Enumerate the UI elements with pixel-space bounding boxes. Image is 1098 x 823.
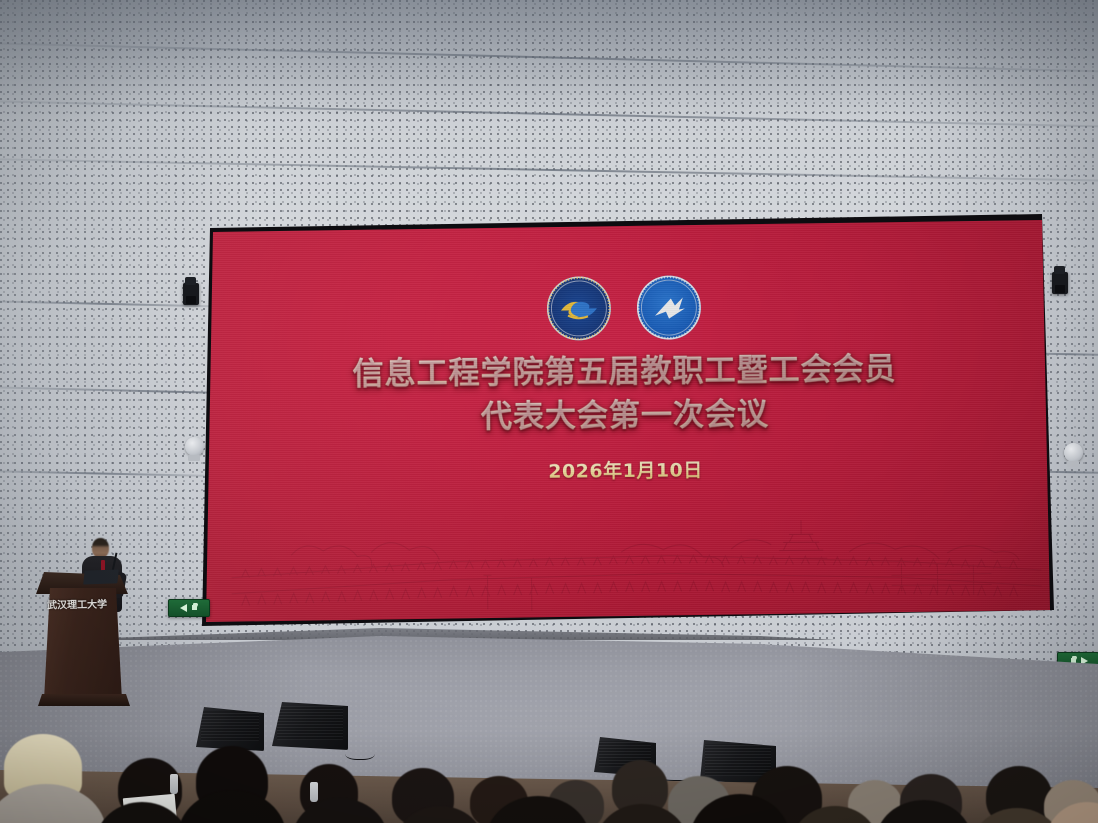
union-bird-emblem-icon: [649, 293, 689, 321]
podium-laptop: [83, 569, 119, 584]
led-screen: 信息工程学院第五届教职工暨工会会员 代表大会第一次会议 2026年1月10日: [200, 218, 1050, 622]
wall-speaker-left-icon: [185, 437, 204, 456]
monitor-cable: [655, 768, 703, 781]
trade-union-emblem-icon: [637, 275, 702, 340]
auditorium-scene: 信息工程学院第五届教职工暨工会会员 代表大会第一次会议 2026年1月10日 武…: [0, 0, 1098, 823]
screen-date-line: 2026年1月10日: [240, 452, 1010, 486]
campus-line-art: [201, 474, 1050, 622]
running-person-icon: [190, 603, 199, 614]
presenter-head: [92, 538, 109, 558]
stage-monitor-2: [272, 702, 348, 750]
podium-name-plate: 武汉理工大学: [44, 595, 110, 611]
wuhan-university-of-technology-emblem-icon: [547, 276, 612, 341]
exit-sign-left: [168, 599, 210, 617]
monitor-cable: [345, 745, 375, 760]
stage-light-left-icon: [183, 283, 199, 305]
screen-title-line-1: 信息工程学院第五届教职工暨工会会员: [239, 346, 1009, 397]
emblem-row: [200, 272, 1049, 344]
stage-light-right-icon: [1052, 272, 1068, 294]
arrow-left-icon: [180, 604, 187, 612]
stage-monitor-4: [700, 740, 776, 786]
screen-title-line-2: 代表大会第一次会议: [240, 390, 1010, 441]
screen-title-block: 信息工程学院第五届教职工暨工会会员 代表大会第一次会议 2026年1月10日: [200, 346, 1050, 487]
stage-monitor-1: [196, 707, 264, 751]
stage-monitor-3: [594, 737, 656, 777]
podium-base: [38, 694, 130, 706]
university-wave-emblem-icon: [559, 297, 599, 323]
wall-speaker-right-icon: [1064, 443, 1083, 462]
